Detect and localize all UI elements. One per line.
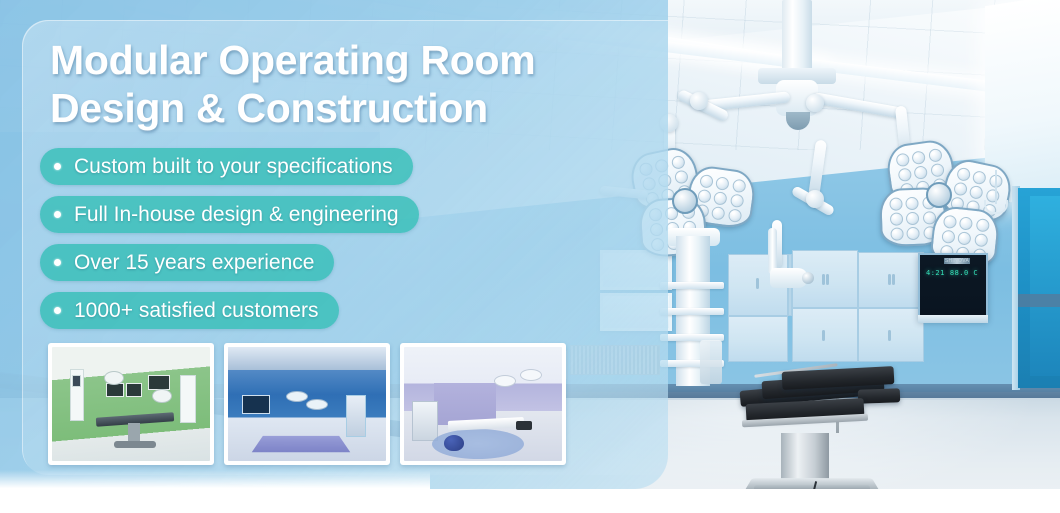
feature-bullet-1: Custom built to your specifications <box>40 148 413 185</box>
bullet-dot-icon <box>54 163 61 170</box>
headline-line-1: Modular Operating Room <box>50 37 535 83</box>
feature-bullet-4-label: 1000+ satisfied customers <box>74 299 319 323</box>
thumbnail-3[interactable] <box>400 343 566 465</box>
or-monitor <box>126 383 142 397</box>
bullet-dot-icon <box>54 211 61 218</box>
bullet-dot-icon <box>54 307 61 314</box>
or-equipment-cabinet <box>346 395 366 437</box>
or-wall-unit <box>180 375 196 423</box>
or-ceiling <box>228 347 386 370</box>
thumbnail-2[interactable] <box>224 343 390 465</box>
or-monitor <box>106 383 124 397</box>
bullet-dot-icon <box>54 259 61 266</box>
feature-bullet-3: Over 15 years experience <box>40 244 334 281</box>
or-surgical-light <box>494 375 516 387</box>
or-floor-mat <box>252 436 351 452</box>
thumbnail-2-image <box>228 347 386 461</box>
or-table-base <box>114 441 156 448</box>
or-monitor <box>148 375 170 390</box>
thumbnail-3-image <box>404 347 562 461</box>
feature-bullet-2-label: Full In-house design & engineering <box>74 203 399 227</box>
or-equipment-panel <box>72 375 81 387</box>
feature-bullet-list: Custom built to your specifications Full… <box>40 148 580 340</box>
feature-bullet-1-label: Custom built to your specifications <box>74 155 393 179</box>
or-surgical-light <box>306 399 328 410</box>
or-equipment-bag <box>444 435 464 451</box>
banner-base-fade <box>0 470 430 496</box>
or-anesthesia-cart <box>412 401 438 441</box>
or-surgical-light <box>104 371 124 385</box>
or-surgical-light <box>520 369 542 381</box>
feature-bullet-2: Full In-house design & engineering <box>40 196 419 233</box>
or-table-column <box>128 423 140 443</box>
feature-bullet-3-label: Over 15 years experience <box>74 251 314 275</box>
or-surgical-light <box>286 391 308 402</box>
feature-bullet-4: 1000+ satisfied customers <box>40 292 339 329</box>
or-surgical-light <box>152 389 172 403</box>
thumbnail-1[interactable] <box>48 343 214 465</box>
or-wall-monitor <box>242 395 270 414</box>
thumbnail-1-image <box>52 347 210 461</box>
or-table-headrest <box>516 421 532 430</box>
thumbnail-gallery <box>48 343 566 465</box>
headline-line-2: Design & Construction <box>50 84 610 132</box>
promo-banner: SHINOVA 4:21 88.0 C Modular Operatin <box>0 0 1060 513</box>
page-title: Modular Operating Room Design & Construc… <box>50 36 610 133</box>
